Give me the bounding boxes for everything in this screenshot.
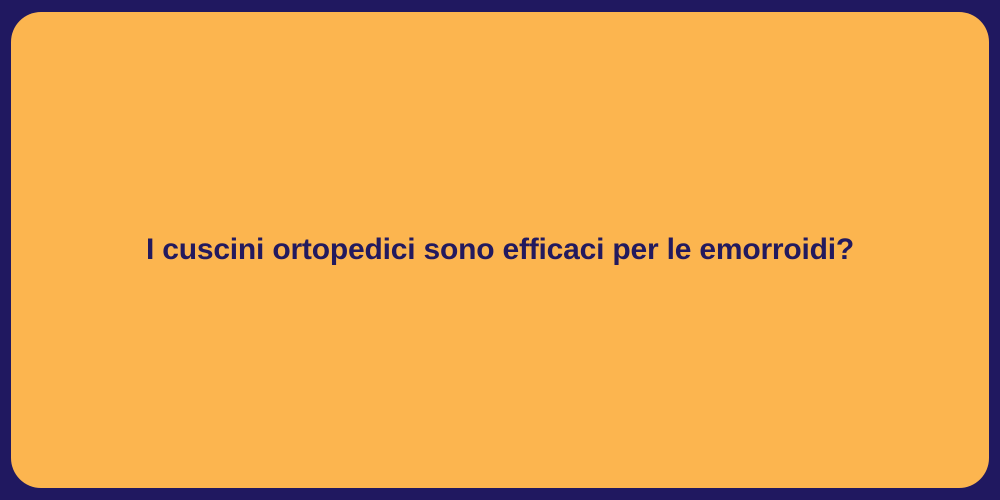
page-title: I cuscini ortopedici sono efficaci per l… [146,231,854,269]
question-card: I cuscini ortopedici sono efficaci per l… [11,12,989,488]
page-canvas: I cuscini ortopedici sono efficaci per l… [0,0,1000,500]
question-card-content: I cuscini ortopedici sono efficaci per l… [11,231,989,269]
